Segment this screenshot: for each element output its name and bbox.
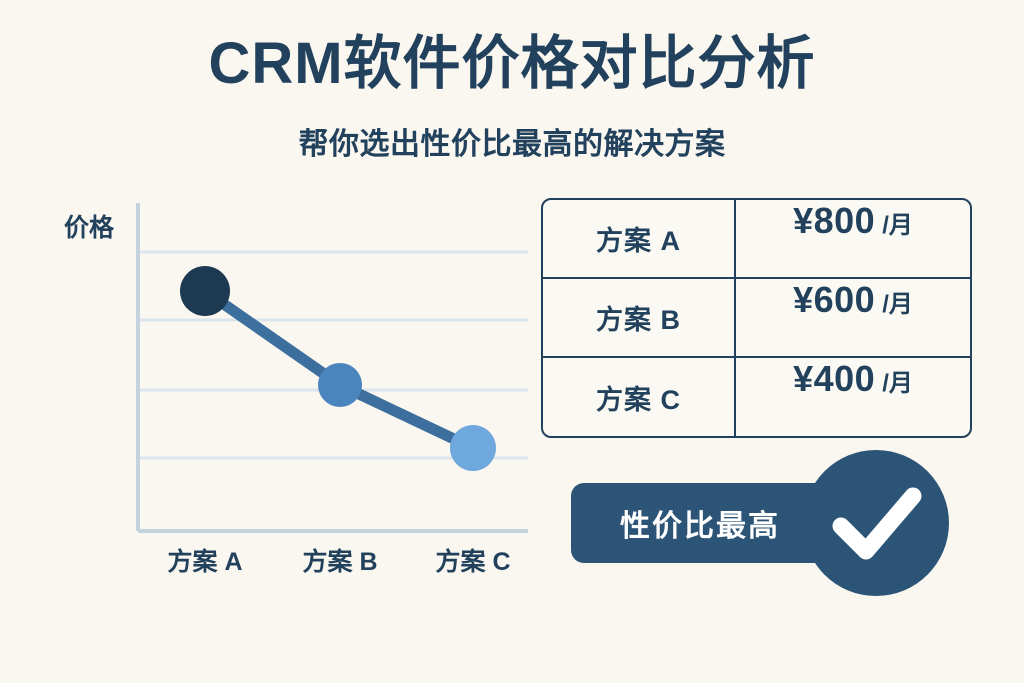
- infographic-canvas: CRM软件价格对比分析 帮你选出性价比最高的解决方案 价格 方案 A 方案 B …: [0, 0, 1024, 683]
- data-point-plan-a: [180, 266, 230, 316]
- table-cell-price: ¥600 /月: [736, 279, 970, 356]
- x-tick-label-plan-c: 方案 C: [435, 542, 510, 578]
- x-tick-label-plan-a: 方案 A: [167, 542, 242, 578]
- table-row: 方案 C ¥400 /月: [543, 358, 970, 436]
- data-point-plan-c: [450, 425, 496, 471]
- chart-plot-area: [50, 195, 550, 595]
- table-cell-plan: 方案 C: [543, 358, 736, 436]
- best-value-badge: 性价比最高: [560, 445, 960, 605]
- page-title: CRM软件价格对比分析: [0, 34, 1024, 95]
- price-amount: ¥600: [793, 279, 875, 321]
- price-unit: /月: [882, 205, 913, 240]
- data-point-plan-b: [318, 363, 362, 407]
- table-cell-plan: 方案 A: [543, 200, 736, 277]
- table-cell-price: ¥400 /月: [736, 358, 970, 436]
- table-row: 方案 B ¥600 /月: [543, 279, 970, 358]
- table-cell-plan: 方案 B: [543, 279, 736, 356]
- price-unit: /月: [882, 363, 913, 398]
- table-row: 方案 A ¥800 /月: [543, 200, 970, 279]
- price-amount: ¥800: [793, 200, 875, 242]
- price-amount: ¥400: [793, 358, 875, 400]
- table-cell-price: ¥800 /月: [736, 200, 970, 277]
- x-tick-label-plan-b: 方案 B: [302, 542, 377, 578]
- badge-label: 性价比最高: [620, 501, 802, 545]
- price-unit: /月: [882, 284, 913, 319]
- price-line-chart: 价格 方案 A 方案 B 方案 C: [50, 195, 550, 595]
- price-table: 方案 A ¥800 /月 方案 B ¥600 /月 方案 C ¥400 /月: [541, 198, 972, 438]
- page-subtitle: 帮你选出性价比最高的解决方案: [0, 119, 1024, 163]
- check-icon: [803, 450, 949, 596]
